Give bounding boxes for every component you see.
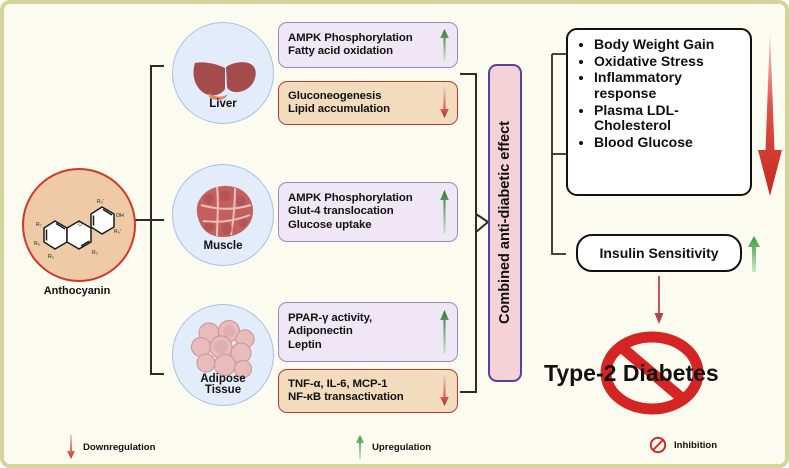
- effect-line: AMPK Phosphorylation: [288, 32, 435, 45]
- outcomes-list: Body Weight Gain Oxidative Stress Inflam…: [578, 37, 742, 151]
- svg-text:O: O: [78, 222, 82, 228]
- combined-effect-box: Combined anti-diabetic effect: [488, 64, 522, 382]
- insulin-sensitivity-label: Insulin Sensitivity: [599, 245, 718, 261]
- tissue-label-liver: Liver: [209, 99, 237, 111]
- down-arrow-red-icon: [66, 434, 76, 460]
- effect-line: Adiponectin: [288, 325, 435, 338]
- tissue-label-muscle: Muscle: [204, 241, 243, 253]
- effect-line: Gluconeogenesis: [288, 90, 435, 103]
- legend-item-upregulation: Upregulation: [355, 434, 431, 460]
- effect-box-muscle-up: AMPK Phosphorylation Glut-4 translocatio…: [278, 182, 458, 242]
- tissue-circle-adipose: Adipose Tissue: [172, 304, 274, 406]
- svg-text:R₃': R₃': [97, 199, 104, 205]
- effect-box-adipose-down-text: TNF-α, IL-6, MCP-1 NF-κB transactivation: [288, 378, 435, 405]
- outcomes-box: Body Weight Gain Oxidative Stress Inflam…: [566, 28, 752, 196]
- anthocyanin-label: Anthocyanin: [22, 285, 132, 297]
- effect-box-liver-down-text: Gluconeogenesis Lipid accumulation: [288, 90, 435, 117]
- svg-text:R₅: R₅: [48, 254, 54, 260]
- svg-text:R₃: R₃: [92, 250, 98, 256]
- connector-insulin-to-result: [649, 276, 669, 326]
- effect-line: Leptin: [288, 339, 435, 352]
- effect-line: TNF-α, IL-6, MCP-1: [288, 378, 435, 391]
- legend-label-upregulation: Upregulation: [372, 442, 431, 453]
- effect-line: Glucose uptake: [288, 219, 435, 232]
- effect-line: Fatty acid oxidation: [288, 45, 435, 58]
- tissue-label-adipose-line2: Tissue: [200, 385, 245, 397]
- effect-box-adipose-up: PPAR-γ activity, Adiponectin Leptin: [278, 302, 458, 362]
- tissue-circle-liver: Liver: [172, 22, 274, 124]
- tissue-label-adipose: Adipose Tissue: [200, 374, 245, 397]
- effect-line: Lipid accumulation: [288, 103, 435, 116]
- result-label: Type-2 Diabetes: [544, 360, 719, 387]
- combined-effect-label: Combined anti-diabetic effect: [497, 121, 513, 324]
- down-arrow-red-icon: [439, 374, 450, 408]
- tissue-circle-muscle: Muscle: [172, 164, 274, 266]
- up-arrow-green-icon: [439, 27, 450, 63]
- effect-box-muscle-up-text: AMPK Phosphorylation Glut-4 translocatio…: [288, 192, 435, 232]
- up-arrow-green-icon: [439, 188, 450, 236]
- legend-item-downregulation: Downregulation: [66, 434, 155, 460]
- outcome-item: Oxidative Stress: [594, 54, 742, 70]
- effect-line: Glut-4 translocation: [288, 205, 435, 218]
- inhibition-no-entry-icon: [649, 436, 667, 454]
- svg-text:R₆: R₆: [34, 241, 40, 247]
- svg-text:R₇: R₇: [36, 222, 42, 228]
- up-arrow-green-icon: [439, 308, 450, 356]
- effect-line: AMPK Phosphorylation: [288, 192, 435, 205]
- svg-text:OH: OH: [116, 213, 124, 219]
- outcome-item: Plasma LDL-Cholesterol: [594, 103, 742, 134]
- down-arrow-red-icon: [439, 86, 450, 120]
- anthocyanin-structure-icon: R₇ R₆ R₅ R₃ O R₃' OH R₅': [24, 170, 134, 280]
- effect-box-liver-up: AMPK Phosphorylation Fatty acid oxidatio…: [278, 22, 458, 68]
- svg-text:R₅': R₅': [114, 229, 121, 235]
- effect-line: NF-κB transactivation: [288, 391, 435, 404]
- anthocyanin-circle: R₇ R₆ R₅ R₃ O R₃' OH R₅': [22, 168, 136, 282]
- outcome-item: Blood Glucose: [594, 135, 742, 151]
- effect-box-adipose-up-text: PPAR-γ activity, Adiponectin Leptin: [288, 312, 435, 352]
- outcome-item: Inflammatory response: [594, 70, 742, 101]
- outcome-item: Body Weight Gain: [594, 37, 742, 53]
- up-arrow-green-icon: [746, 235, 762, 273]
- effect-box-adipose-down: TNF-α, IL-6, MCP-1 NF-κB transactivation: [278, 369, 458, 413]
- diagram-canvas: R₇ R₆ R₅ R₃ O R₃' OH R₅' Anthocyanin Liv…: [0, 0, 789, 468]
- effect-line: PPAR-γ activity,: [288, 312, 435, 325]
- legend-label-inhibition: Inhibition: [674, 440, 717, 451]
- effect-box-liver-down: Gluconeogenesis Lipid accumulation: [278, 81, 458, 125]
- legend-item-inhibition: Inhibition: [649, 436, 717, 454]
- insulin-sensitivity-box: Insulin Sensitivity: [576, 234, 742, 272]
- effect-box-liver-up-text: AMPK Phosphorylation Fatty acid oxidatio…: [288, 32, 435, 59]
- up-arrow-green-icon: [355, 434, 365, 460]
- down-arrow-red-large-icon: [756, 30, 786, 200]
- legend-label-downregulation: Downregulation: [83, 442, 155, 453]
